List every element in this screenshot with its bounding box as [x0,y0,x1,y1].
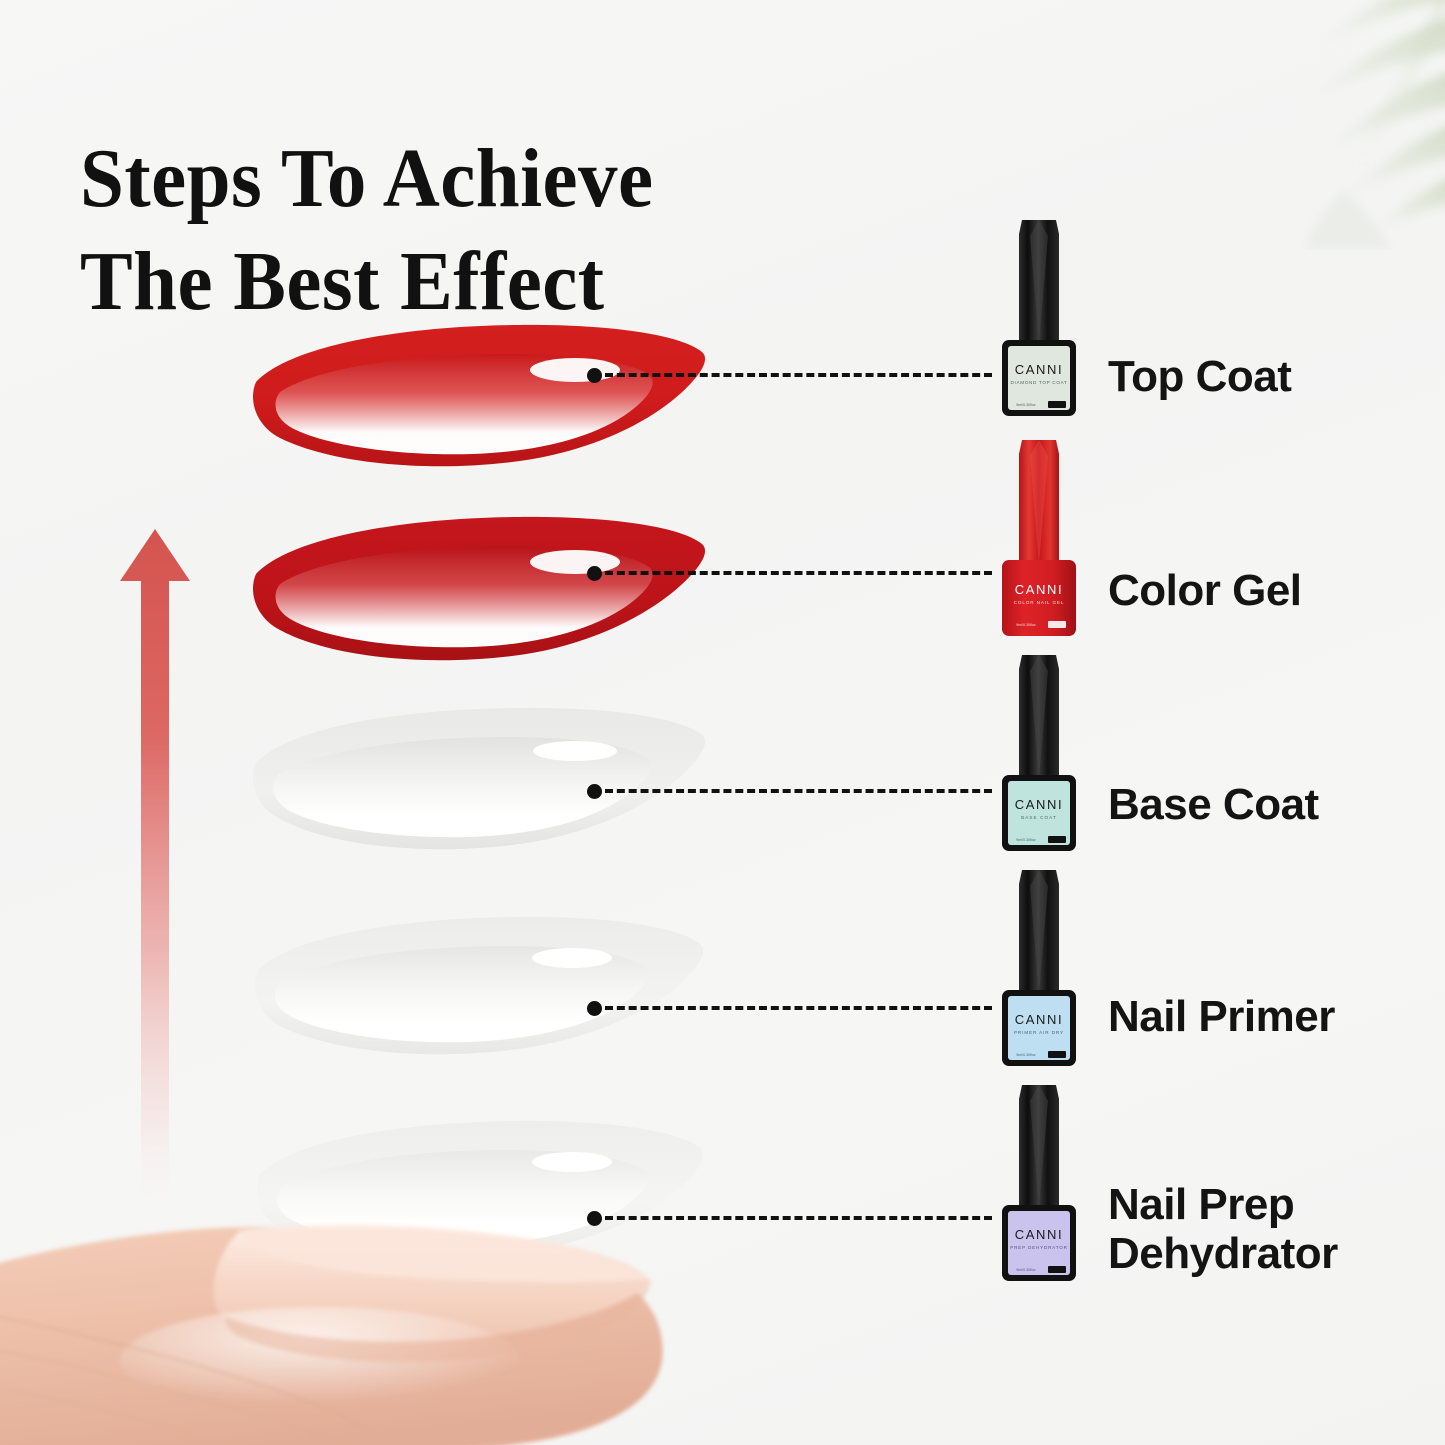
bottle-product: PRIMER AIR DRY [1014,1030,1064,1035]
connector-dot [587,1001,602,1016]
bottle-volume: 9ml/0.30floz [1016,623,1036,627]
connector-nail-prep [587,1210,992,1226]
connector-dot [587,368,602,383]
barcode-badge [1048,621,1066,628]
barcode-badge [1048,836,1066,843]
bottle-product: COLOR NAIL GEL [1014,600,1065,605]
connector-dash [605,1216,992,1220]
bottle-volume: 9ml/0.30floz [1016,1053,1036,1057]
step-label-base-coat: Base Coat [1108,780,1319,829]
infographic-canvas: Steps To Achieve The Best Effect [0,0,1445,1445]
connector-dash [605,373,992,377]
connector-dot [587,566,602,581]
connector-dash [605,571,992,575]
step-label-nail-prep-dehydrator: Nail Prep Dehydrator [1108,1180,1338,1279]
nail-layer-nail-primer [250,912,712,1062]
bottle-brand: CANNI [1015,1227,1063,1242]
nail-layer-color-gel [250,512,712,662]
connector-dash [605,789,992,793]
bottle-nail-prep-dehydrator[interactable]: CANNI PREP DEHYDRATOR 9ml/0.30floz [986,1083,1092,1283]
connector-top-coat [587,367,992,383]
connector-color-gel [587,565,992,581]
up-arrow-icon [112,525,198,1225]
title-line-2: The Best Effect [80,231,870,333]
connector-dot [587,1211,602,1226]
connector-nail-primer [587,1000,992,1016]
barcode-badge [1048,1266,1066,1273]
bottle-product: BASE COAT [1021,815,1057,820]
bottle-brand: CANNI [1015,362,1063,377]
connector-dash [605,1006,992,1010]
bottle-brand: CANNI [1015,582,1063,597]
nail-layer-top-coat [250,322,712,472]
barcode-badge [1048,1051,1066,1058]
nail-layer-base-coat [250,705,712,855]
step-label-color-gel: Color Gel [1108,566,1302,615]
palm-leaf-icon [1095,0,1445,250]
bottle-product: PREP DEHYDRATOR [1010,1245,1067,1250]
bottle-product: DIAMOND TOP COAT [1010,380,1067,385]
bottle-base-coat[interactable]: CANNI BASE COAT 9ml/0.30floz [986,653,1092,853]
bottle-volume: 9ml/0.30floz [1016,838,1036,842]
bottle-top-coat[interactable]: CANNI DIAMOND TOP COAT 9ml/0.30floz [986,218,1092,418]
connector-dot [587,784,602,799]
step-label-top-coat: Top Coat [1108,352,1291,401]
bottle-brand: CANNI [1015,1012,1063,1027]
bottle-brand: CANNI [1015,797,1063,812]
barcode-badge [1048,401,1066,408]
connector-base-coat [587,783,992,799]
step-label-nail-primer: Nail Primer [1108,992,1335,1041]
title-line-1: Steps To Achieve [80,128,870,230]
nail-layer-nail-prep [250,1118,712,1268]
bottle-volume: 9ml/0.30floz [1016,403,1036,407]
bottle-color-gel[interactable]: CANNI COLOR NAIL GEL 9ml/0.30floz [986,438,1092,638]
bottle-volume: 9ml/0.30floz [1016,1268,1036,1272]
page-title: Steps To Achieve The Best Effect [80,128,870,333]
bottle-nail-primer[interactable]: CANNI PRIMER AIR DRY 9ml/0.30floz [986,868,1092,1068]
